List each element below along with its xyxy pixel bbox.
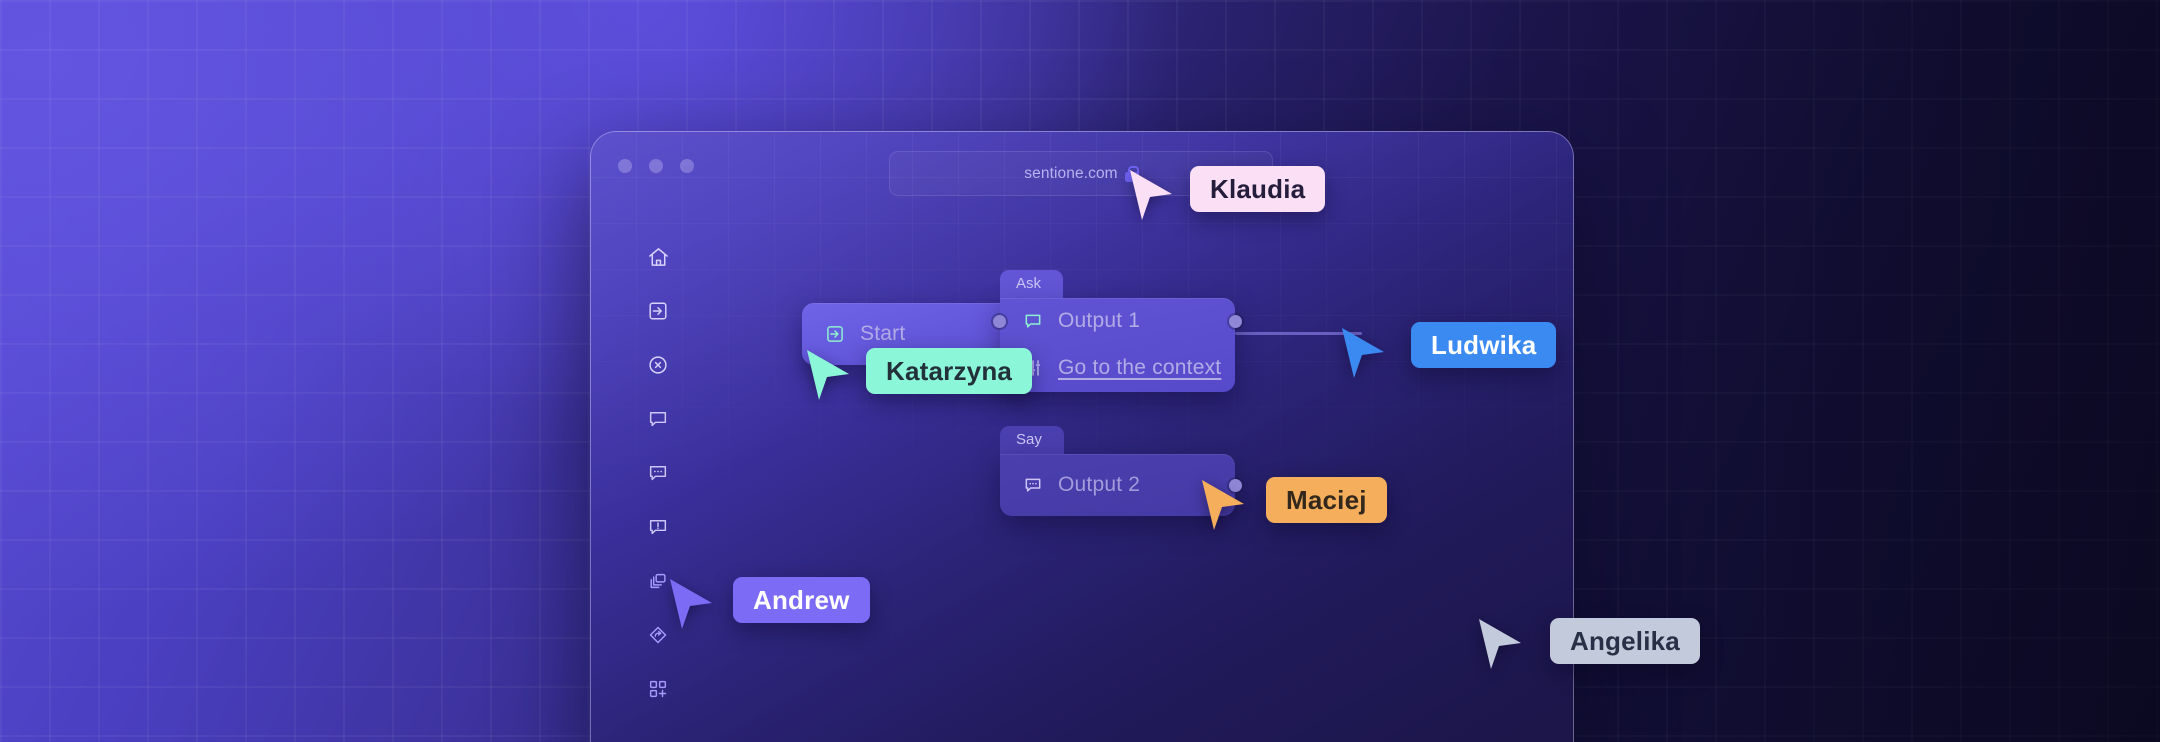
flow-node-ask-output-port[interactable] [1229, 315, 1242, 328]
enter-arrow-icon [824, 323, 846, 345]
home-icon [647, 246, 670, 269]
grid-plus-icon [647, 678, 669, 700]
chat-bubble-icon [1022, 310, 1044, 332]
circle-x-icon [647, 354, 669, 376]
window-close-button[interactable] [618, 159, 632, 173]
cursor-label-andrew: Andrew [733, 577, 870, 623]
sidebar-item-start[interactable] [631, 284, 685, 338]
window-controls [618, 159, 694, 173]
flow-node-ask-body[interactable]: Output 1 Go to the context [1000, 298, 1235, 392]
flow-node-ask-tab: Ask [1000, 270, 1063, 298]
sidebar-item-fallback[interactable] [631, 500, 685, 554]
flow-node-ask[interactable]: Ask Output 1 [1000, 270, 1235, 392]
chat-dots-icon [1022, 474, 1044, 496]
sidebar [631, 230, 685, 716]
sidebar-item-ask[interactable] [631, 446, 685, 500]
sidebar-item-add-block[interactable] [631, 662, 685, 716]
cursor-label-katarzyna: Katarzyna [866, 348, 1032, 394]
enter-arrow-icon [647, 300, 669, 322]
browser-window: sentione.com [590, 131, 1574, 742]
window-maximize-button[interactable] [680, 159, 694, 173]
chat-bubble-icon [647, 408, 669, 430]
cursor-label-ludwika: Ludwika [1411, 322, 1556, 368]
sidebar-item-close[interactable] [631, 338, 685, 392]
flow-node-ask-input-port[interactable] [993, 315, 1006, 328]
flow-node-ask-output1-label: Output 1 [1058, 309, 1140, 333]
flow-node-say-output2-label: Output 2 [1058, 473, 1140, 497]
flow-node-ask-row-output1[interactable]: Output 1 [1000, 298, 1235, 345]
window-minimize-button[interactable] [649, 159, 663, 173]
diamond-arrow-icon [647, 624, 669, 646]
sidebar-item-say[interactable] [631, 392, 685, 446]
flow-node-ask-row-context[interactable]: Go to the context [1000, 345, 1235, 392]
cursor-label-angelika: Angelika [1550, 618, 1700, 664]
cursor-label-klaudia: Klaudia [1190, 166, 1325, 212]
address-bar-url: sentione.com [1024, 165, 1117, 183]
flow-node-start-label: Start [860, 322, 905, 346]
chat-alert-icon [647, 516, 669, 538]
sidebar-item-home[interactable] [631, 230, 685, 284]
chat-dots-icon [647, 462, 669, 484]
screenshot-root: sentione.com [0, 0, 2160, 742]
cursor-label-maciej: Maciej [1266, 477, 1387, 523]
flow-node-ask-context-link[interactable]: Go to the context [1058, 356, 1221, 380]
layers-icon [647, 570, 669, 592]
flow-node-say-tab: Say [1000, 426, 1064, 454]
